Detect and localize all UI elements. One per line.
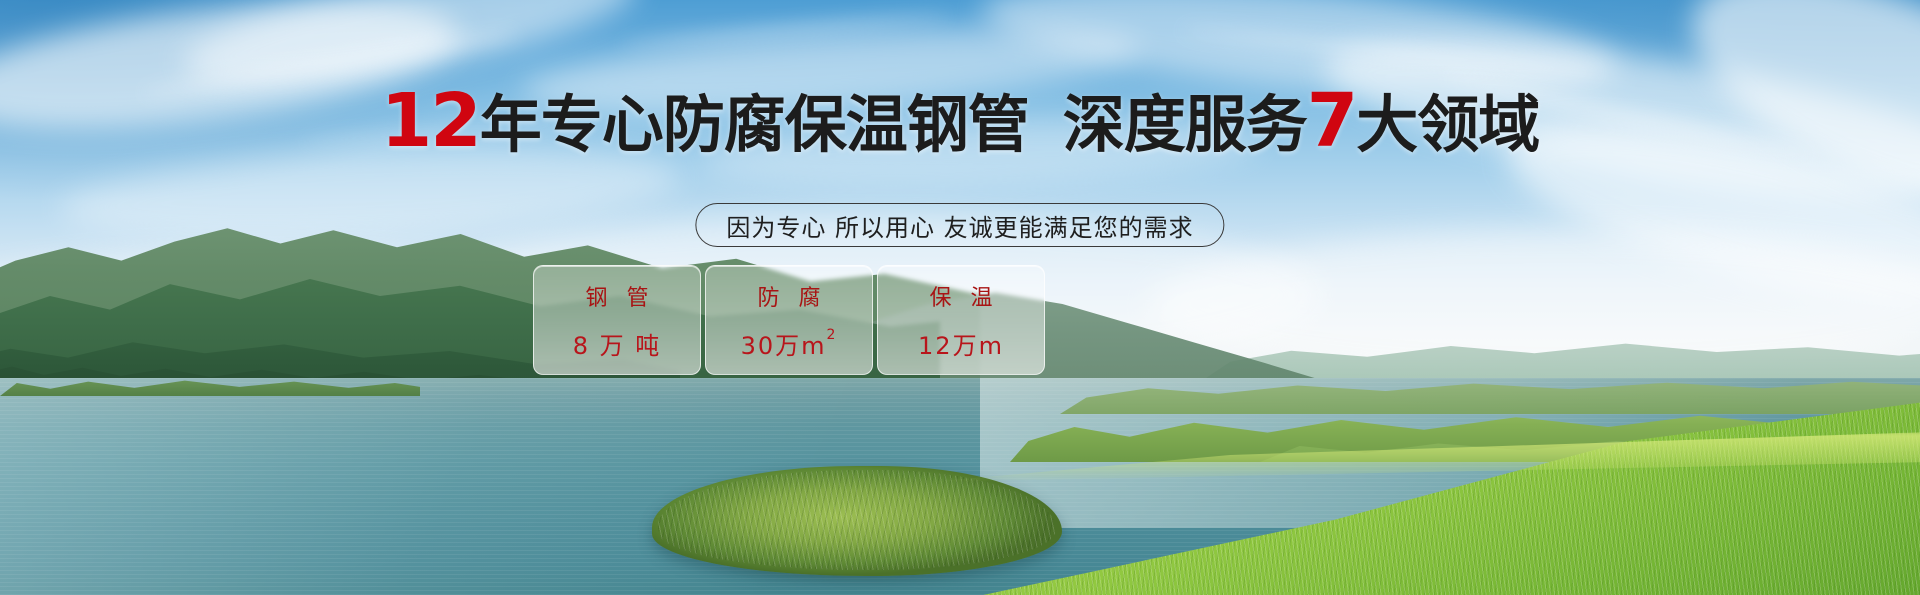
headline-text-secondary: 深度服务 (1063, 88, 1307, 161)
stat-card-group: 钢 管 8 万 吨 防 腐 30万m2 保 温 12万m (533, 265, 1045, 375)
stat-card-value-superscript: 2 (827, 328, 838, 342)
distant-hills (1200, 322, 1920, 382)
stat-card-value: 12万m (918, 326, 1004, 361)
tagline-text: 因为专心 所以用心 友诚更能满足您的需求 (726, 208, 1193, 243)
stat-card-title: 保 温 (924, 280, 999, 312)
stat-card-title: 钢 管 (580, 280, 655, 312)
headline-text-tertiary: 大领域 (1356, 88, 1539, 161)
tagline-pill: 因为专心 所以用心 友诚更能满足您的需求 (695, 203, 1224, 247)
banner-headline: 12年专心防腐保温钢管深度服务7大领域 (0, 84, 1920, 158)
stat-card-value: 8 万 吨 (573, 326, 662, 361)
stat-card-steel-pipe[interactable]: 钢 管 8 万 吨 (533, 265, 701, 375)
stat-card-value-text: 8 万 吨 (573, 326, 662, 361)
stat-card-value-text: 30万m (741, 326, 827, 361)
headline-fields-number: 7 (1307, 78, 1357, 164)
grass-island-texture (658, 470, 1056, 570)
stat-card-insulation[interactable]: 保 温 12万m (877, 265, 1045, 375)
headline-years-number: 12 (381, 78, 480, 164)
stat-card-value: 30万m2 (741, 326, 838, 361)
stat-card-title: 防 腐 (752, 280, 827, 312)
promo-banner: 12年专心防腐保温钢管深度服务7大领域 因为专心 所以用心 友诚更能满足您的需求… (0, 0, 1920, 595)
stat-card-value-text: 12万m (918, 326, 1004, 361)
headline-text-primary: 年专心防腐保温钢管 (480, 88, 1029, 161)
stat-card-anticorrosion[interactable]: 防 腐 30万m2 (705, 265, 873, 375)
